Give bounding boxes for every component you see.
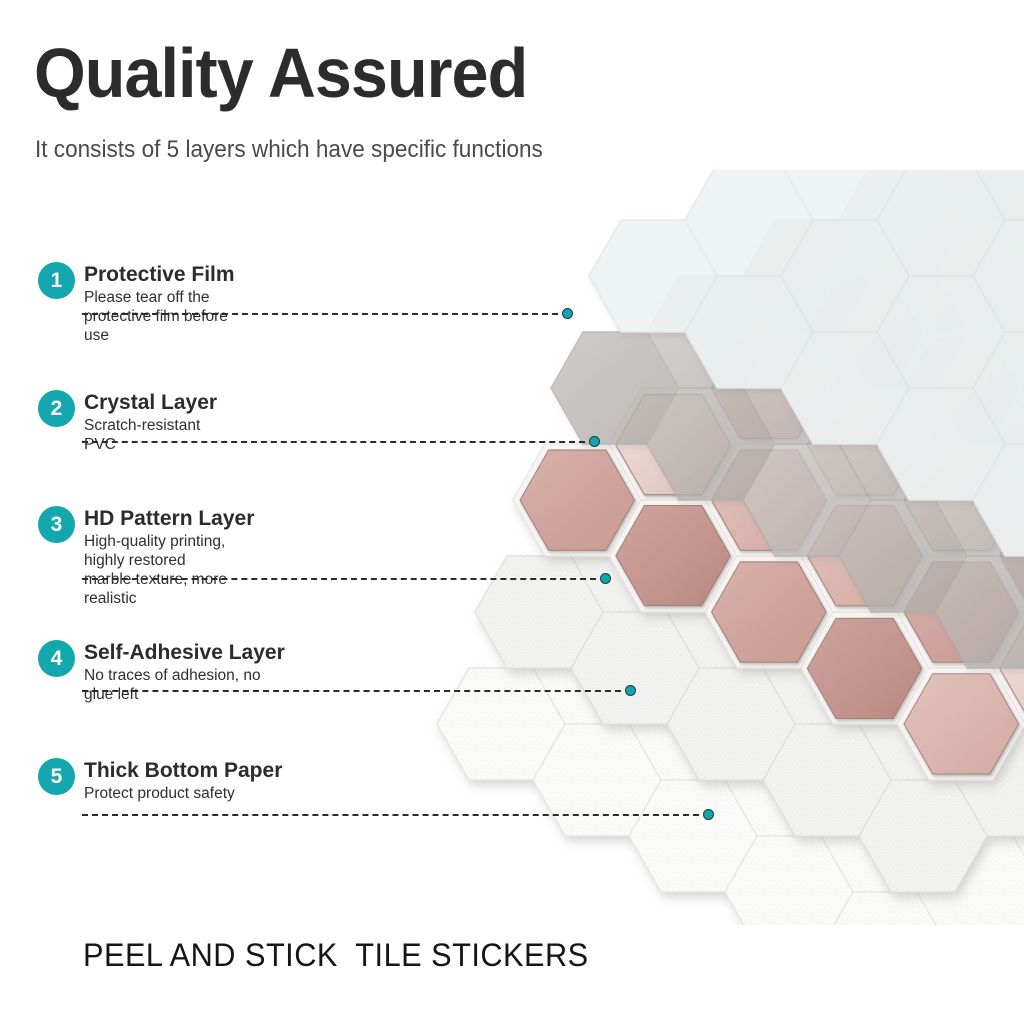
layer-number-badge-4: 4 <box>38 640 75 677</box>
leader-line-2 <box>82 441 585 443</box>
infographic-canvas: Quality Assured It consists of 5 layers … <box>0 0 1024 1024</box>
leader-line-3 <box>82 578 596 580</box>
leader-dot-5 <box>703 809 714 820</box>
leader-line-4 <box>82 690 621 692</box>
leader-dot-2 <box>589 436 600 447</box>
leader-line-5 <box>82 814 699 816</box>
leader-dot-3 <box>600 573 611 584</box>
layer-description-5: Protect product safety <box>84 784 282 803</box>
layer-name-3: HD Pattern Layer <box>84 506 254 531</box>
leader-line-1 <box>82 313 558 315</box>
layer-name-4: Self-Adhesive Layer <box>84 640 285 665</box>
footer-caption: PEEL AND STICK TILE STICKERS <box>83 936 589 974</box>
layer-number-badge-2: 2 <box>38 390 75 427</box>
leader-dot-4 <box>625 685 636 696</box>
page-title: Quality Assured <box>34 38 527 108</box>
layer-name-1: Protective Film <box>84 262 235 287</box>
layer-description-1: Please tear off the protective film befo… <box>84 288 235 345</box>
layer-description-3: High-quality printing, highly restored m… <box>84 532 254 608</box>
layer-number-badge-3: 3 <box>38 506 75 543</box>
leader-dot-1 <box>562 308 573 319</box>
page-subtitle: It consists of 5 layers which have speci… <box>35 135 543 165</box>
layer-number-badge-1: 1 <box>38 262 75 299</box>
layer-description-2: Scratch-resistant PVC <box>84 416 217 454</box>
layer-name-2: Crystal Layer <box>84 390 217 415</box>
layer-description-4: No traces of adhesion, no glue left <box>84 666 285 704</box>
layer-name-5: Thick Bottom Paper <box>84 758 282 783</box>
layer-number-badge-5: 5 <box>38 758 75 795</box>
